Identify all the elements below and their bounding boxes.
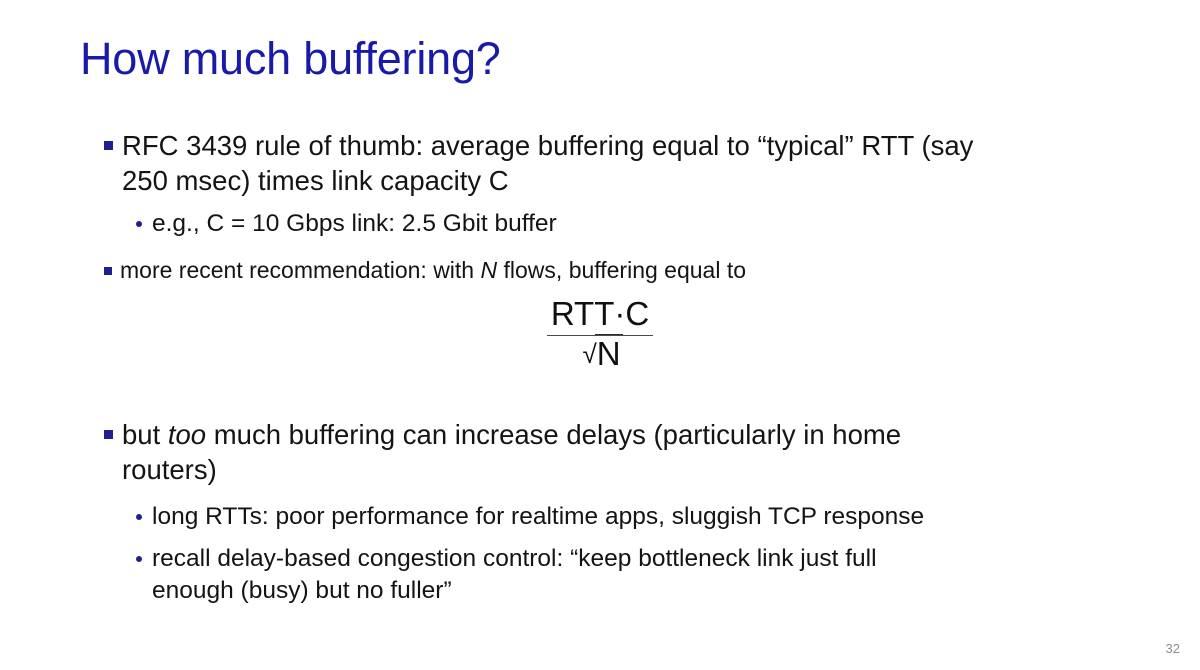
formula-block: RTT·C √N xyxy=(0,297,1200,395)
spacer xyxy=(0,487,1200,501)
radical-sign: √ xyxy=(582,339,596,369)
round-bullet-icon xyxy=(136,221,142,227)
bullet-level1-rfc3439: RFC 3439 rule of thumb: average bufferin… xyxy=(0,128,1200,198)
bullet-level2-long-rtts: long RTTs: poor performance for realtime… xyxy=(0,501,1200,533)
slide-body: RFC 3439 rule of thumb: average bufferin… xyxy=(0,128,1200,607)
bullet-text-line2: routers) xyxy=(122,454,217,485)
radicand-n: N xyxy=(597,335,621,372)
round-bullet-icon xyxy=(136,556,142,562)
spacer xyxy=(0,198,1200,208)
square-bullet-icon xyxy=(104,430,113,439)
bullet-text-line1: recall delay-based congestion control: “… xyxy=(152,545,877,572)
spacer xyxy=(0,395,1200,417)
bullet-text: e.g., C = 10 Gbps link: 2.5 Gbit buffer xyxy=(152,210,557,237)
spacer xyxy=(0,240,1200,256)
fraction-denominator: √N xyxy=(547,330,653,370)
square-root-icon: √N xyxy=(579,337,620,370)
bullet-text-suffix: flows, buffering equal to xyxy=(497,257,746,283)
spacer xyxy=(0,533,1200,543)
bullet-text-variable-n: N xyxy=(481,257,498,283)
square-bullet-icon xyxy=(104,141,113,150)
bullet-text-prefix: more recent recommendation: with xyxy=(120,257,481,283)
fraction-numerator: RTT·C xyxy=(547,295,653,336)
bullet-text-prefix: but xyxy=(122,419,168,450)
bullet-text-suffix: much buffering can increase delays (part… xyxy=(206,419,901,450)
bullet-text-line2: 250 msec) times link capacity C xyxy=(122,165,509,196)
bullet-text-line1: RFC 3439 rule of thumb: average bufferin… xyxy=(122,130,973,161)
bullet-level2-delay-based-congestion-control: recall delay-based congestion control: “… xyxy=(0,543,1200,607)
bullet-level1-too-much-buffering: but too much buffering can increase dela… xyxy=(0,417,1200,487)
fraction: RTT·C √N xyxy=(547,297,653,370)
page-number: 32 xyxy=(1166,641,1180,656)
bullet-text: long RTTs: poor performance for realtime… xyxy=(152,503,924,530)
square-bullet-icon xyxy=(104,267,112,275)
round-bullet-icon xyxy=(136,514,142,520)
bullet-level1-recent-recommendation: more recent recommendation: with N flows… xyxy=(0,256,1200,285)
fraction-rtt-c-over-sqrt-n: RTT·C √N xyxy=(0,297,1200,370)
bullet-level2-example-capacity: e.g., C = 10 Gbps link: 2.5 Gbit buffer xyxy=(0,208,1200,240)
slide-canvas: How much buffering? RFC 3439 rule of thu… xyxy=(0,0,1200,670)
bullet-text-emphasis-too: too xyxy=(168,419,206,450)
page-title: How much buffering? xyxy=(80,34,501,84)
bullet-text-line2: enough (busy) but no fuller” xyxy=(152,577,452,604)
